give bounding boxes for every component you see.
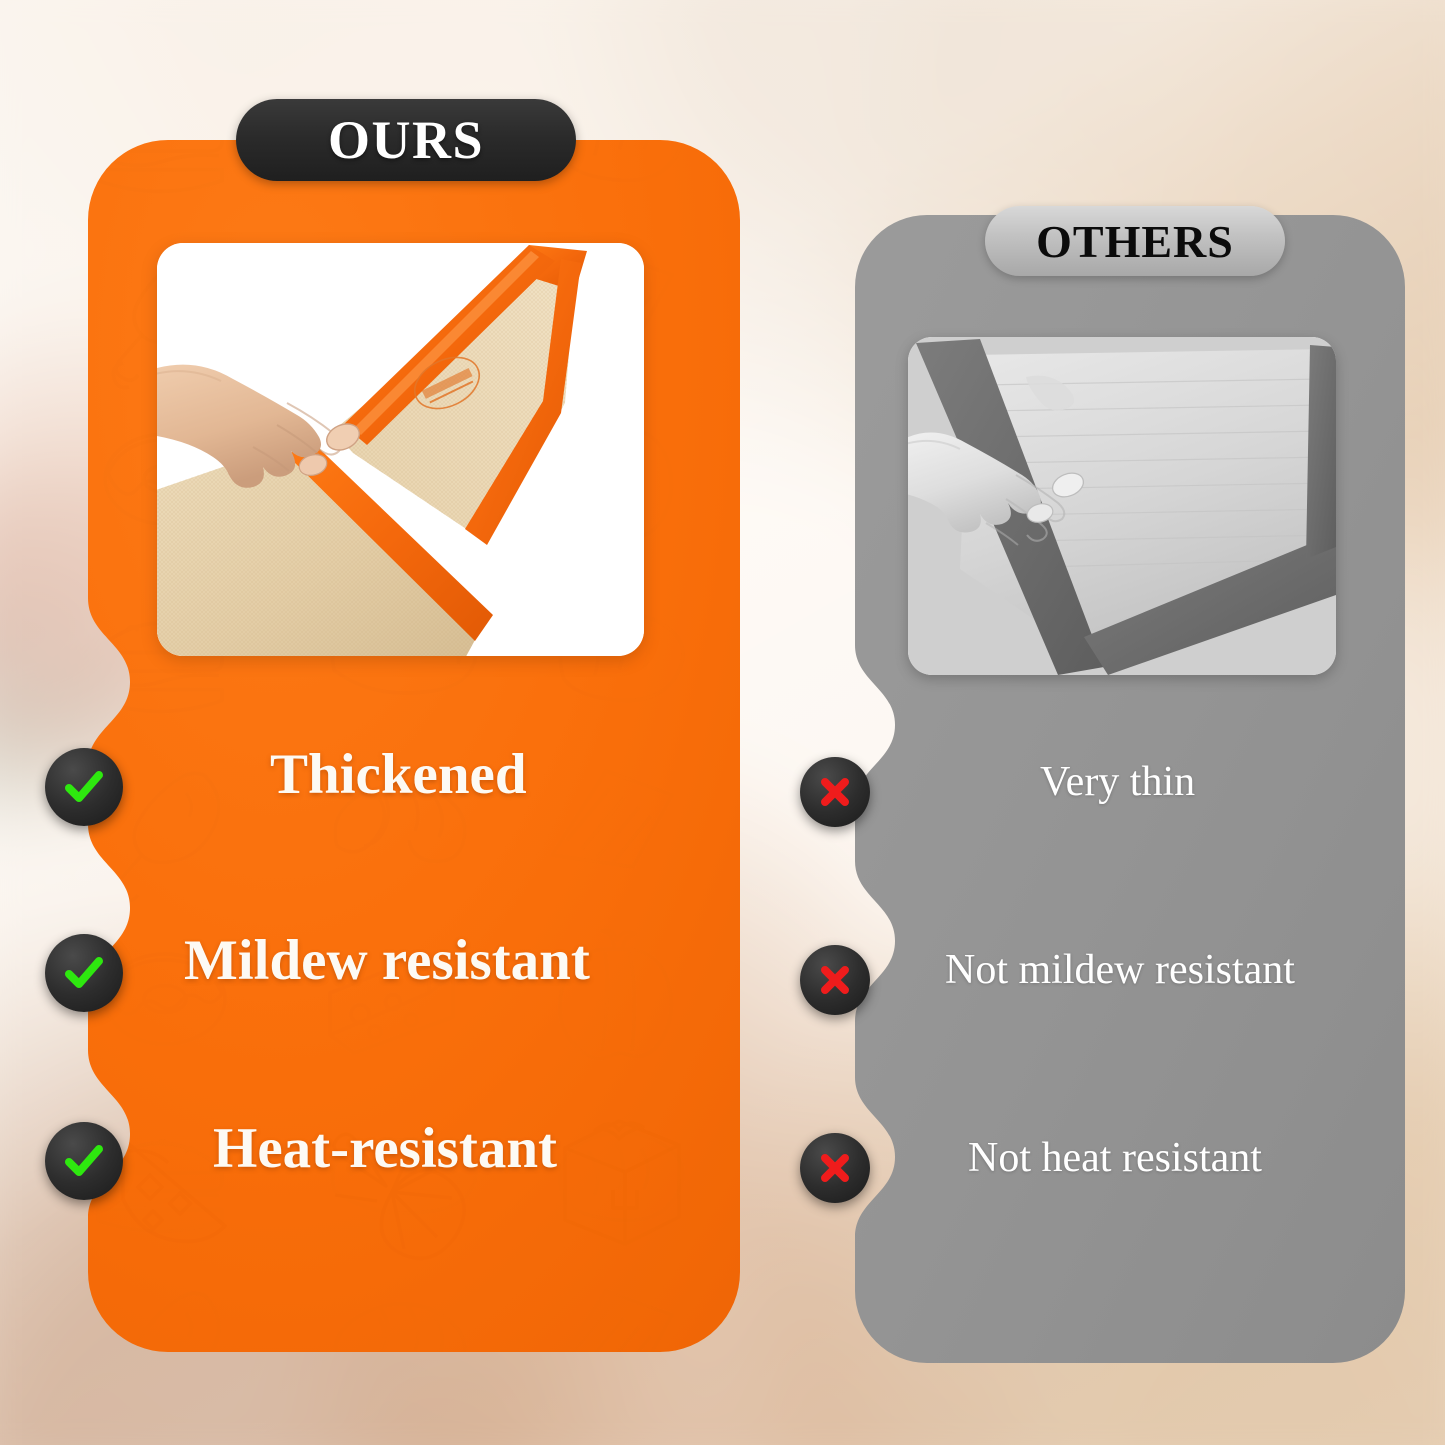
check-badge-3 xyxy=(45,1122,123,1200)
check-icon xyxy=(61,1138,107,1184)
ours-badge-label: OURS xyxy=(328,109,484,171)
thin-baking-mat-grayscale-photo xyxy=(908,337,1336,675)
others-feature-label-2: Not mildew resistant xyxy=(945,946,1295,994)
comparison-infographic: OURS xyxy=(0,0,1445,1445)
check-icon xyxy=(61,950,107,996)
check-icon xyxy=(61,764,107,810)
ours-feature-label-1: Thickened xyxy=(270,742,527,807)
others-badge-label: OTHERS xyxy=(1036,215,1234,268)
others-feature-label-3: Not heat resistant xyxy=(968,1134,1262,1182)
cross-badge-3 xyxy=(800,1133,870,1203)
ours-badge: OURS xyxy=(236,99,576,181)
others-badge: OTHERS xyxy=(985,206,1285,276)
ours-feature-label-3: Heat-resistant xyxy=(213,1116,557,1181)
cross-badge-2 xyxy=(800,945,870,1015)
check-badge-2 xyxy=(45,934,123,1012)
cross-icon xyxy=(815,772,855,812)
cross-badge-1 xyxy=(800,757,870,827)
cross-icon xyxy=(815,960,855,1000)
check-badge-1 xyxy=(45,748,123,826)
silicone-baking-mat-thick-photo xyxy=(157,243,644,656)
cross-icon xyxy=(815,1148,855,1188)
others-feature-label-1: Very thin xyxy=(1040,758,1195,806)
ours-feature-label-2: Mildew resistant xyxy=(184,928,590,993)
